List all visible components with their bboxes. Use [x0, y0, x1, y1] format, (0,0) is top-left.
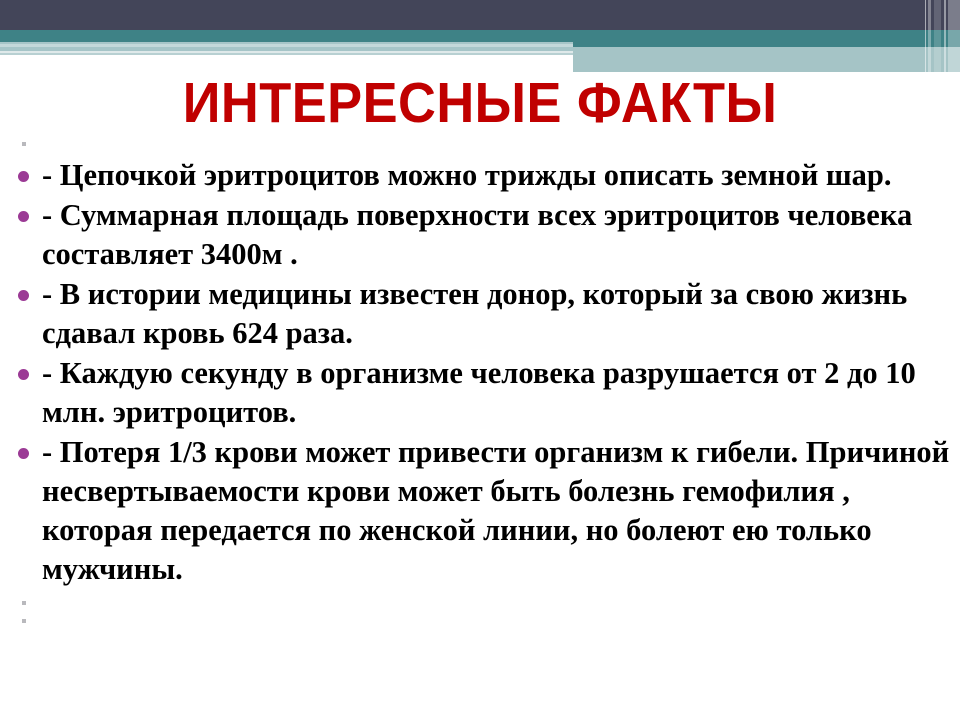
header-stripe-accent-3 [934, 0, 941, 72]
fact-list: - Цепочкой эритроцитов можно трижды опис… [0, 156, 960, 589]
header-decoration-banner [0, 0, 960, 72]
list-item: - В истории медицины известен донор, кот… [0, 275, 960, 353]
decorative-dot-bottom-1 [22, 601, 26, 605]
header-stripe-accent-4 [944, 0, 946, 72]
list-item: - Суммарная площадь поверхности всех эри… [0, 196, 960, 274]
header-stripe-accent-5 [948, 0, 960, 72]
header-band-light-right [573, 47, 960, 72]
slide-title: ИНТЕРЕСНЫЕ ФАКТЫ [38, 72, 921, 134]
decorative-dot-bottom-2 [22, 619, 26, 623]
header-hairline-lower [0, 53, 573, 55]
header-stripe-accent-1 [925, 0, 926, 72]
list-item: - Потеря 1/3 крови может привести органи… [0, 433, 960, 589]
slide-body: - Цепочкой эритроцитов можно трижды опис… [0, 142, 960, 623]
slide: ИНТЕРЕСНЫЕ ФАКТЫ - Цепочкой эритроцитов … [0, 0, 960, 720]
list-item: - Цепочкой эритроцитов можно трижды опис… [0, 156, 960, 195]
header-stripe-accent-2 [928, 0, 931, 72]
list-item: - Каждую секунду в организме человека ра… [0, 354, 960, 432]
header-band-light-left-highlight [0, 44, 573, 47]
decorative-dot-top [22, 142, 26, 146]
header-band-teal-right [573, 30, 960, 47]
header-band-dark [0, 0, 960, 30]
